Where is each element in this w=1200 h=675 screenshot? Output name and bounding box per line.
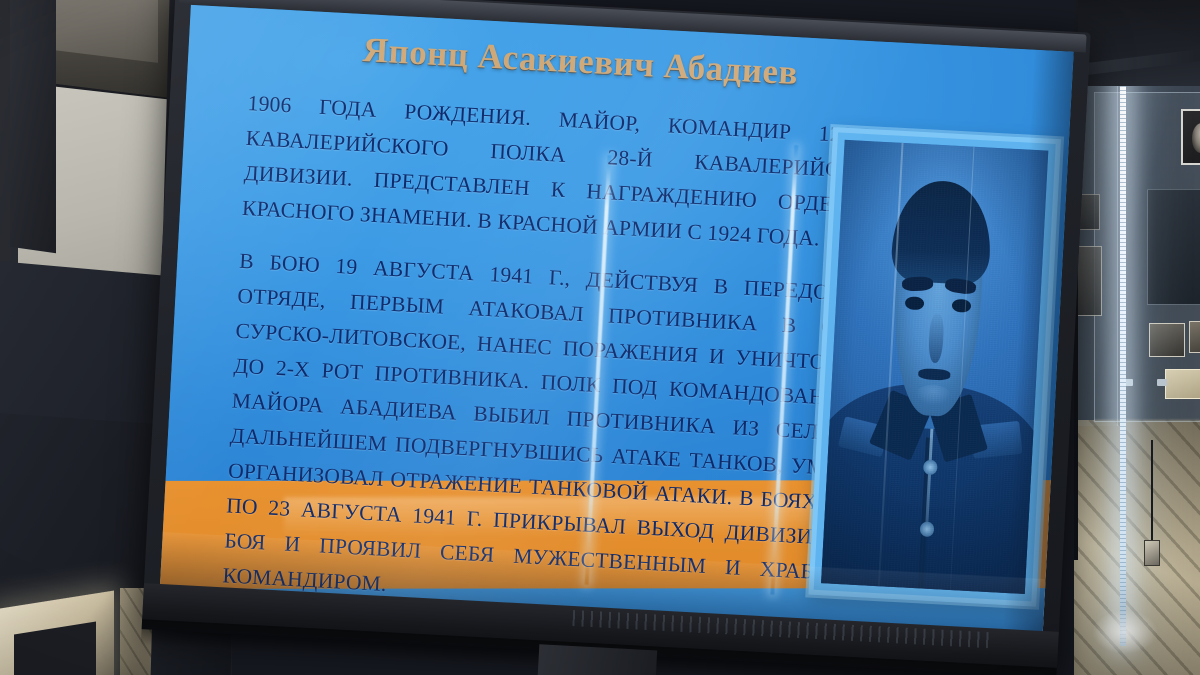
large-document-panel	[1147, 189, 1200, 305]
small-photo-right	[1189, 321, 1200, 353]
led-floor-reflection	[1092, 610, 1158, 654]
metal-plaque	[1165, 369, 1200, 399]
small-photo-left	[1149, 323, 1185, 357]
led-light-strip	[1120, 46, 1126, 646]
museum-exhibit-photo: Японц Асакиевич Абадиев 1906 года рожден…	[0, 0, 1200, 675]
framed-portrait-photo-case	[1181, 109, 1200, 165]
screen-bezel: Японц Асакиевич Абадиев 1906 года рожден…	[142, 0, 1091, 674]
glass-clip-icon	[1157, 379, 1167, 386]
screen-stand-neck	[536, 644, 657, 675]
screen-surface[interactable]: Японц Асакиевич Абадиев 1906 года рожден…	[160, 5, 1074, 633]
presentation-slide: Японц Асакиевич Абадиев 1906 года рожден…	[160, 5, 1074, 633]
glass-mount-bracket	[1144, 540, 1160, 566]
glass-mount-rod	[1151, 440, 1153, 550]
wall-niche-edge	[10, 0, 56, 253]
flat-screen-display[interactable]: Японц Асакиевич Абадиев 1906 года рожден…	[139, 0, 1105, 675]
